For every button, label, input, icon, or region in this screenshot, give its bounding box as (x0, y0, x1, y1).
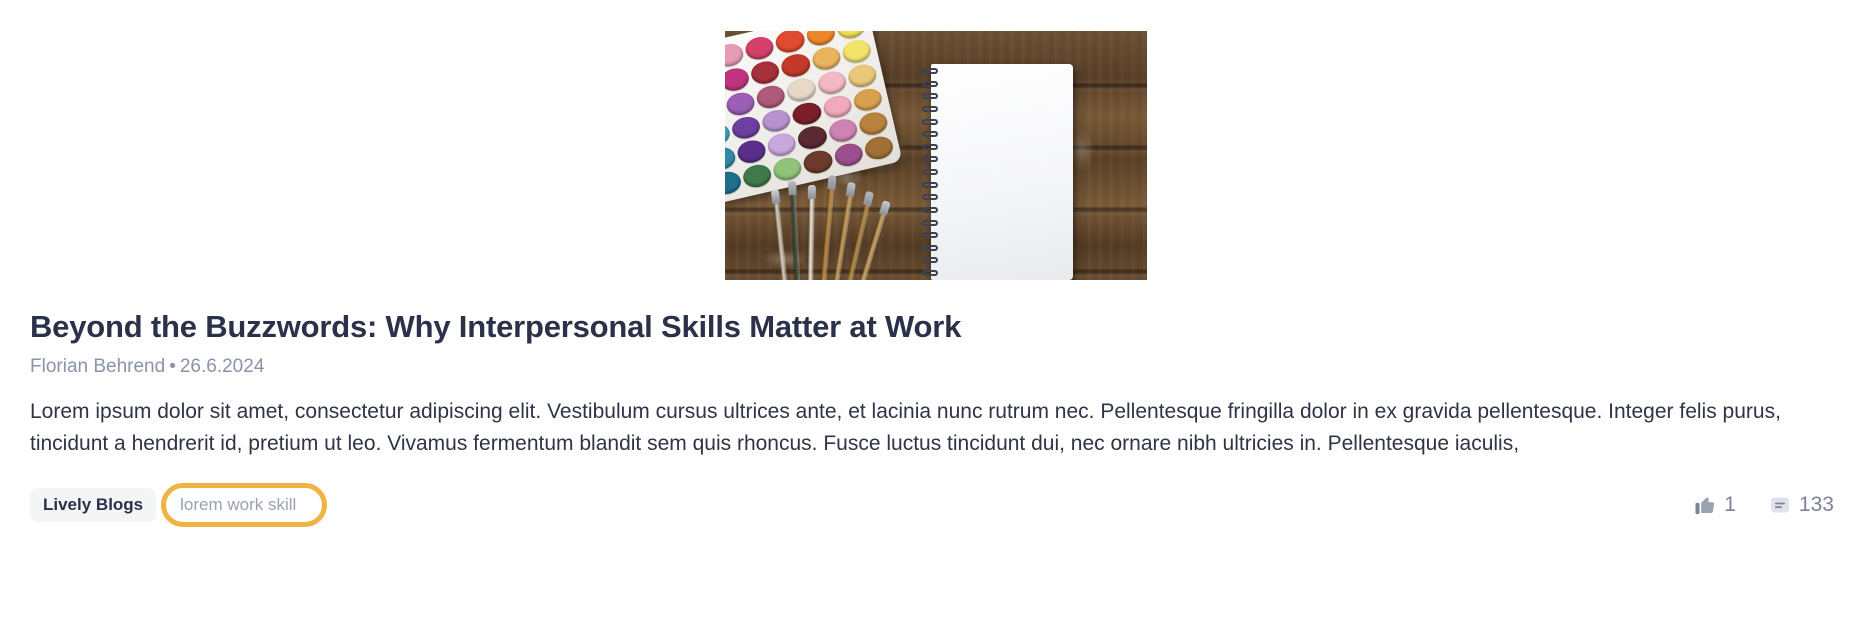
paint-pan-4 (804, 31, 836, 48)
likes-stat[interactable]: 1 (1695, 493, 1736, 517)
spiral-ring (922, 119, 938, 125)
thumbs-up-icon (1695, 495, 1715, 515)
tag-list: Lively Blogs (30, 486, 324, 524)
paintbrush-2 (807, 196, 815, 280)
paint-pan-19 (730, 114, 762, 142)
spiral-notebook-icon (931, 64, 1073, 280)
spiral-ring (922, 207, 938, 213)
paint-pan-18 (725, 121, 732, 149)
spiral-ring (922, 182, 938, 188)
paint-pan-15 (785, 76, 817, 104)
paint-pan-34 (832, 141, 864, 169)
post-stats: 1 133 (1695, 493, 1842, 517)
spiral-ring (922, 220, 938, 226)
spiral-ring (922, 194, 938, 200)
paint-pan-10 (810, 44, 842, 72)
post-excerpt: Lorem ipsum dolor sit amet, consectetur … (30, 396, 1842, 460)
paint-pan-17 (846, 62, 878, 90)
spiral-ring (922, 232, 938, 238)
paint-pan-25 (736, 138, 768, 166)
spiral-ring (922, 245, 938, 251)
spiral-ring (922, 156, 938, 162)
paint-pan-1 (725, 41, 746, 69)
spiral-ring (922, 257, 938, 263)
paint-pan-20 (760, 107, 792, 135)
paintbrush-3 (819, 186, 835, 280)
paint-pan-3 (774, 31, 806, 55)
paint-pan-35 (863, 134, 895, 162)
comments-count: 133 (1799, 493, 1834, 517)
paint-pan-21 (791, 100, 823, 128)
paint-pan-9 (780, 51, 812, 79)
paint-pan-14 (755, 83, 787, 111)
paint-pan-29 (857, 110, 889, 138)
paint-pan-11 (840, 37, 872, 65)
spiral-ring (922, 144, 938, 150)
spiral-ring (922, 169, 938, 175)
paint-pan-16 (816, 69, 848, 97)
spiral-ring (922, 270, 938, 276)
comments-stat[interactable]: 133 (1770, 493, 1834, 517)
paint-pan-27 (796, 124, 828, 152)
paint-pan-7 (725, 65, 751, 93)
spiral-ring (922, 131, 938, 137)
post-title[interactable]: Beyond the Buzzwords: Why Interpersonal … (30, 308, 1842, 345)
spiral-ring (922, 68, 938, 74)
hero-image-container (30, 0, 1842, 280)
byline-separator: • (169, 356, 176, 377)
paintbrushes-icon (773, 176, 903, 280)
paint-pan-5 (835, 31, 867, 41)
likes-count: 1 (1724, 493, 1736, 517)
paint-pan-30 (725, 169, 743, 197)
blog-post-card: Beyond the Buzzwords: Why Interpersonal … (0, 0, 1872, 640)
spiral-ring (922, 81, 938, 87)
comment-icon (1770, 495, 1790, 515)
paint-pan-8 (749, 58, 781, 86)
spiral-ring (922, 93, 938, 99)
paintbrush-0 (773, 200, 789, 280)
paint-pan-26 (766, 131, 798, 159)
notebook-spiral-rings (922, 68, 938, 276)
paint-pan-13 (725, 90, 757, 118)
post-author[interactable]: Florian Behrend (30, 356, 165, 377)
paint-pan-23 (852, 86, 884, 114)
hero-image[interactable] (725, 31, 1147, 280)
post-byline: Florian Behrend•26.6.2024 (30, 356, 1842, 378)
paint-pan-24 (725, 145, 738, 173)
tag-search-input[interactable] (164, 486, 324, 524)
post-date: 26.6.2024 (180, 356, 265, 377)
paint-pan-28 (827, 117, 859, 145)
paint-pan-31 (741, 162, 773, 190)
paint-pan-33 (802, 148, 834, 176)
paint-pan-2 (744, 34, 776, 62)
post-footer: Lively Blogs 1 (30, 486, 1842, 524)
paint-pan-22 (821, 93, 853, 121)
paintbrush-1 (790, 192, 801, 280)
tag-lively-blogs[interactable]: Lively Blogs (30, 488, 156, 522)
spiral-ring (922, 106, 938, 112)
